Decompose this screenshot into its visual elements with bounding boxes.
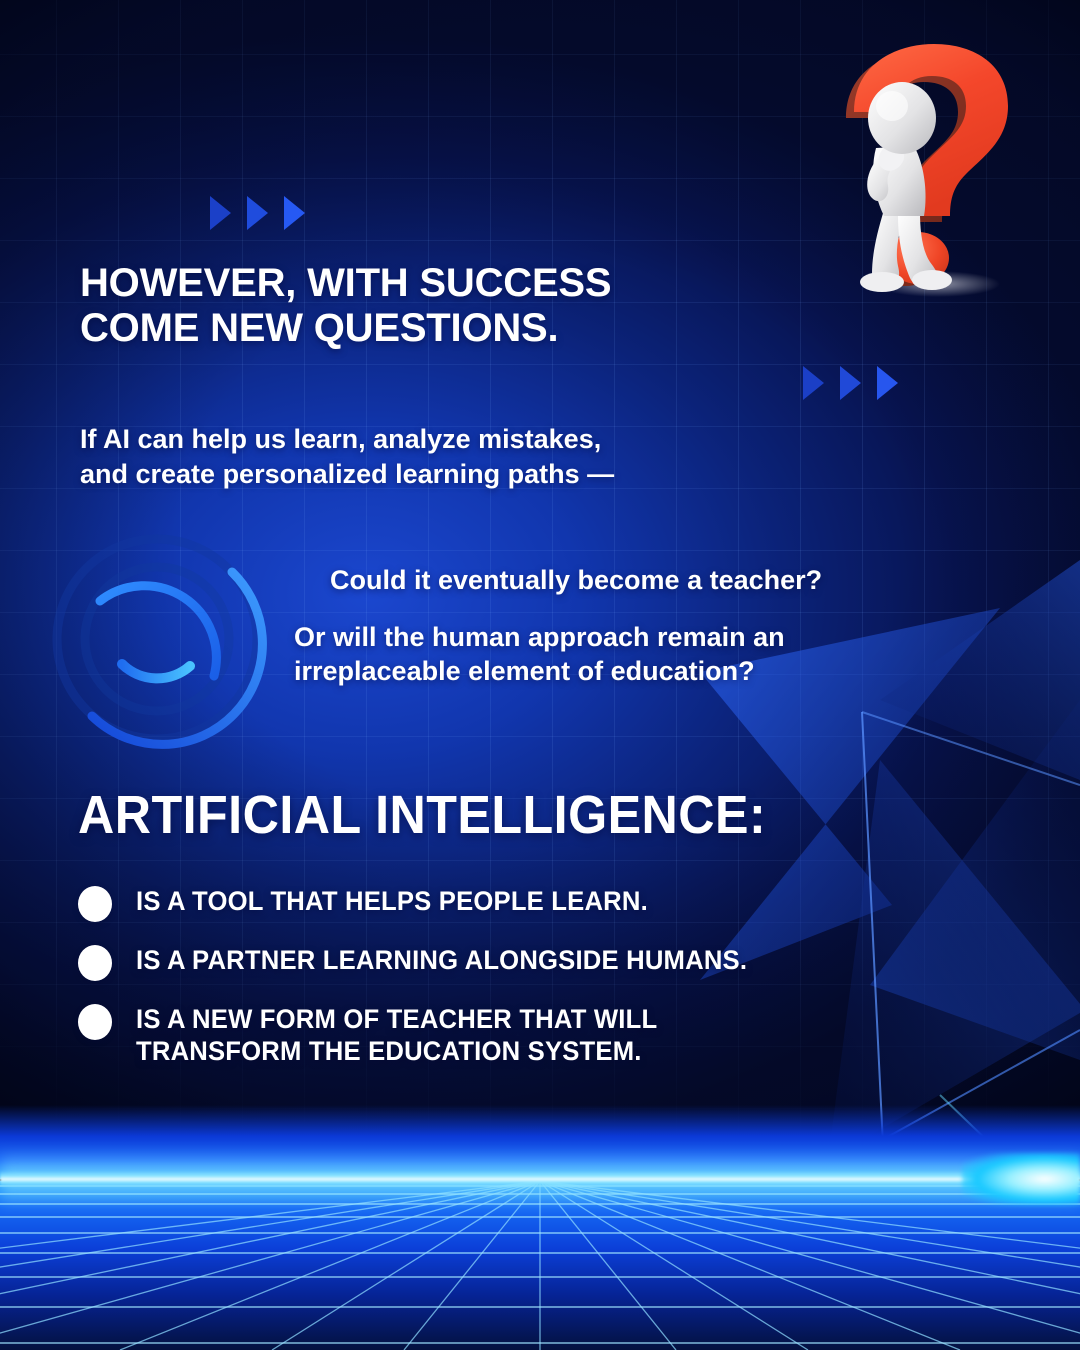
list-item[interactable]: IS A PARTNER LEARNING ALONGSIDE HUMANS. bbox=[78, 944, 878, 981]
list-item[interactable]: IS A NEW FORM OF TEACHER THAT WILL TRANS… bbox=[78, 1003, 878, 1067]
figure-head bbox=[868, 82, 936, 154]
list-item-label: IS A PARTNER LEARNING ALONGSIDE HUMANS. bbox=[136, 944, 747, 976]
chevron-right-icon bbox=[803, 366, 824, 400]
bullet-dot-icon bbox=[78, 886, 112, 922]
intro-paragraph: If AI can help us learn, analyze mistake… bbox=[80, 422, 614, 492]
list-item-label: IS A TOOL THAT HELPS PEOPLE LEARN. bbox=[136, 885, 648, 917]
chevron-group-top bbox=[210, 196, 305, 230]
perspective-floor bbox=[0, 1105, 1080, 1350]
poster-canvas: HOWEVER, WITH SUCCESS COME NEW QUESTIONS… bbox=[0, 0, 1080, 1350]
bullet-dot-icon bbox=[78, 945, 112, 981]
horizon-glow-line bbox=[0, 1171, 1080, 1187]
chevron-right-icon bbox=[877, 366, 898, 400]
list-item-label: IS A NEW FORM OF TEACHER THAT WILL TRANS… bbox=[136, 1003, 657, 1067]
chevron-right-icon bbox=[210, 196, 231, 230]
horizon-cyan-highlight bbox=[962, 1153, 1080, 1205]
page-title: HOWEVER, WITH SUCCESS COME NEW QUESTIONS… bbox=[80, 261, 611, 351]
chevron-group-mid bbox=[803, 366, 898, 400]
question-line-1: Could it eventually become a teacher? bbox=[330, 563, 822, 597]
chevron-right-icon bbox=[247, 196, 268, 230]
bullet-dot-icon bbox=[78, 1004, 112, 1040]
concentric-arc-rings-icon bbox=[42, 524, 272, 754]
section-heading: ARTIFICIAL INTELLIGENCE: bbox=[78, 786, 766, 844]
list-item[interactable]: IS A TOOL THAT HELPS PEOPLE LEARN. bbox=[78, 885, 878, 922]
chevron-right-icon bbox=[840, 366, 861, 400]
question-mark-3d-icon bbox=[836, 40, 1076, 308]
chevron-right-icon bbox=[284, 196, 305, 230]
question-line-2: Or will the human approach remain an irr… bbox=[294, 620, 785, 688]
answer-options-list: IS A TOOL THAT HELPS PEOPLE LEARN. IS A … bbox=[78, 885, 878, 1089]
